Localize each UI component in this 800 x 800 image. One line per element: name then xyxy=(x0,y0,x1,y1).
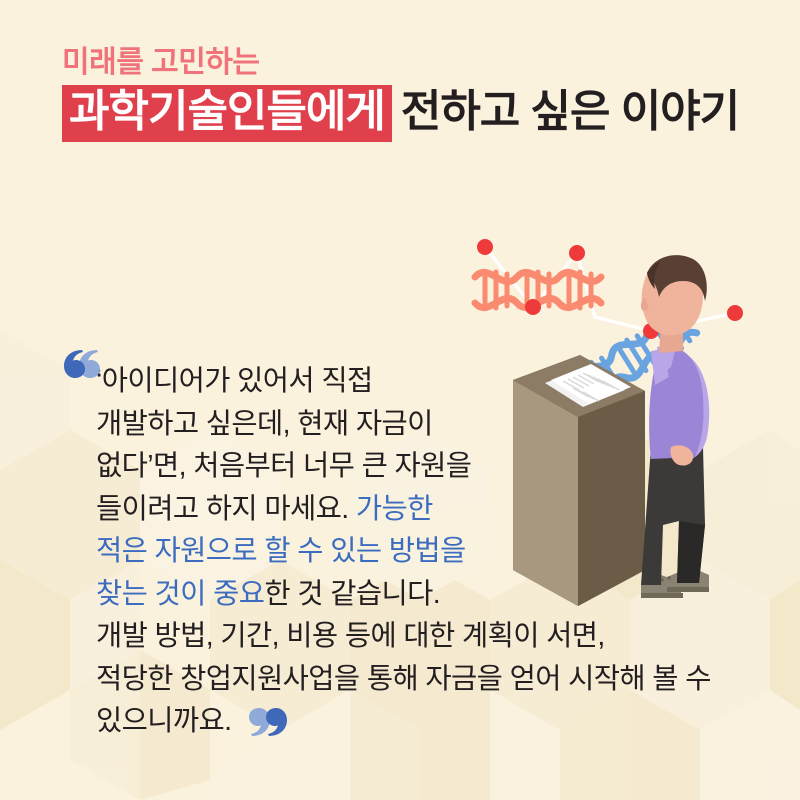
quote-segment: 찾는 것이 중요 xyxy=(96,578,264,610)
opening-quote-icon xyxy=(58,348,102,382)
eyebrow-text: 미래를 고민하는 xyxy=(62,46,739,81)
quote-segment: 적은 자원으로 할 수 있는 방법을 xyxy=(96,535,466,567)
closing-quote-icon xyxy=(246,706,292,740)
quote-segment: 개발 방법, 기간, 비용 등에 대한 계획이 서면, xyxy=(96,620,605,652)
page-title: 과학기술인들에게 전하고 싶은 이야기 xyxy=(62,85,739,143)
quote-segment: 없다’면, 처음부터 너무 큰 자원을 xyxy=(96,450,471,482)
title-highlight: 과학기술인들에게 xyxy=(62,85,392,143)
quote-segment: 가능한 xyxy=(356,493,433,525)
quote-segment: 적당한 창업지원사업을 통해 자금을 얻어 시작해 볼 수 xyxy=(96,663,711,695)
quote-paragraph: ‘아이디어가 있어서 직접개발하고 싶은데, 현재 자금이없다’면, 처음부터 … xyxy=(96,360,786,743)
quote-segment: 개발하고 싶은데, 현재 자금이 xyxy=(96,408,433,440)
quote-segment: 한 것 같습니다. xyxy=(264,578,440,610)
quote-segment: 들이려고 하지 마세요. xyxy=(96,493,356,525)
card-header: 미래를 고민하는 과학기술인들에게 전하고 싶은 이야기 xyxy=(62,46,739,142)
title-rest: 전하고 싶은 이야기 xyxy=(392,89,739,136)
quote-body: ‘아이디어가 있어서 직접개발하고 싶은데, 현재 자금이없다’면, 처음부터 … xyxy=(96,360,786,743)
quote-segment: ‘아이디어가 있어서 직접 xyxy=(96,365,373,397)
quote-segment: 있으니까요. xyxy=(96,705,231,737)
infographic-card: 미래를 고민하는 과학기술인들에게 전하고 싶은 이야기 ‘아이디어가 있어서 … xyxy=(0,0,800,800)
